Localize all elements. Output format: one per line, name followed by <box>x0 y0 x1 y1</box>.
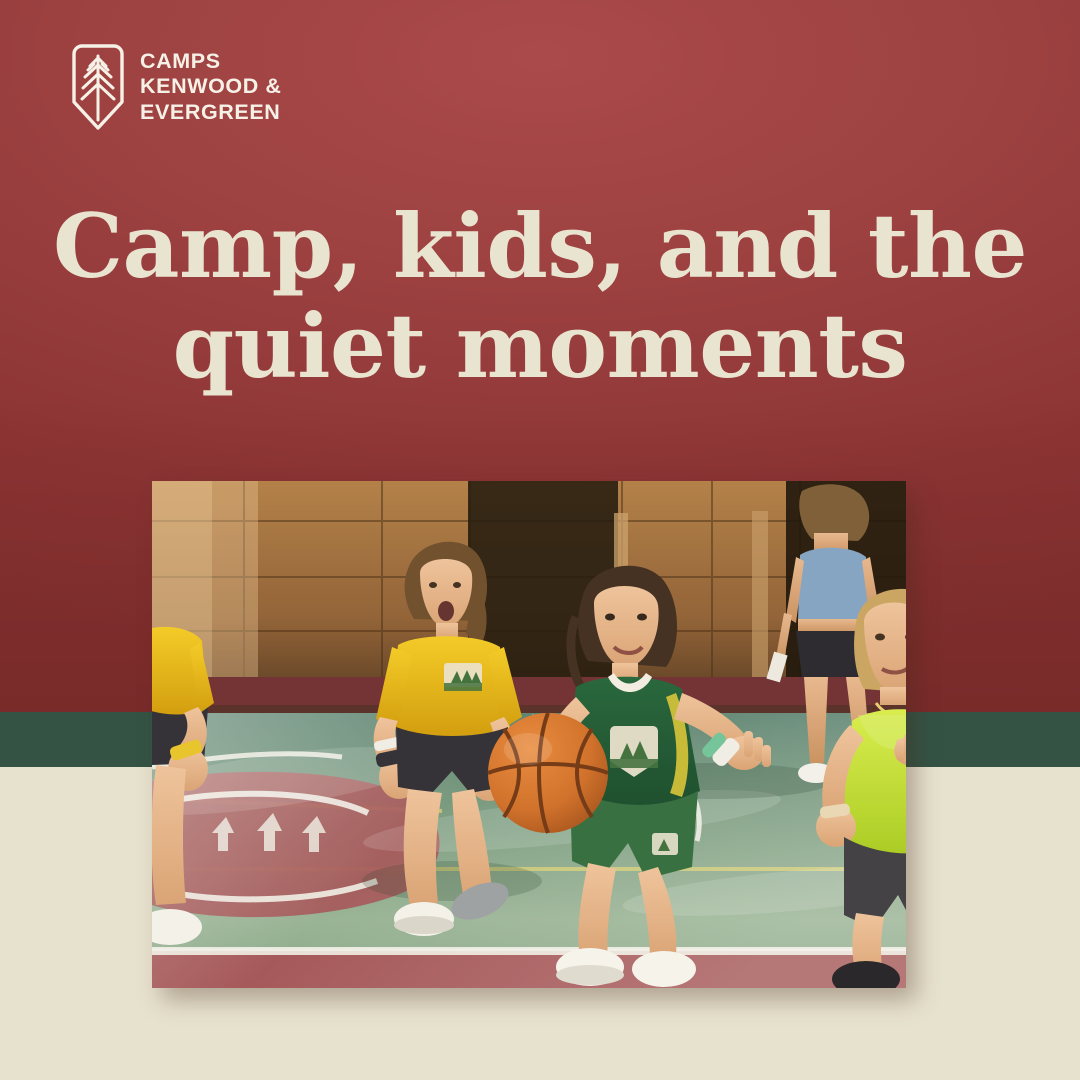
brand-wordmark: CAMPS KENWOOD & EVERGREEN <box>140 49 282 126</box>
photo-card <box>152 481 906 988</box>
headline-line-2: quiet moments <box>0 296 1080 396</box>
shield-pine-tree-icon <box>70 44 126 130</box>
brand-logo[interactable]: CAMPS KENWOOD & EVERGREEN <box>70 44 282 130</box>
brand-line-2: KENWOOD & <box>140 74 282 100</box>
brand-line-1: CAMPS <box>140 49 282 75</box>
headline-line-1: Camp, kids, and the <box>0 196 1080 296</box>
basketball-photo <box>152 481 906 988</box>
social-post-canvas: CAMPS KENWOOD & EVERGREEN Camp, kids, an… <box>0 0 1080 1080</box>
brand-line-3: EVERGREEN <box>140 100 282 126</box>
headline: Camp, kids, and the quiet moments <box>0 196 1080 396</box>
